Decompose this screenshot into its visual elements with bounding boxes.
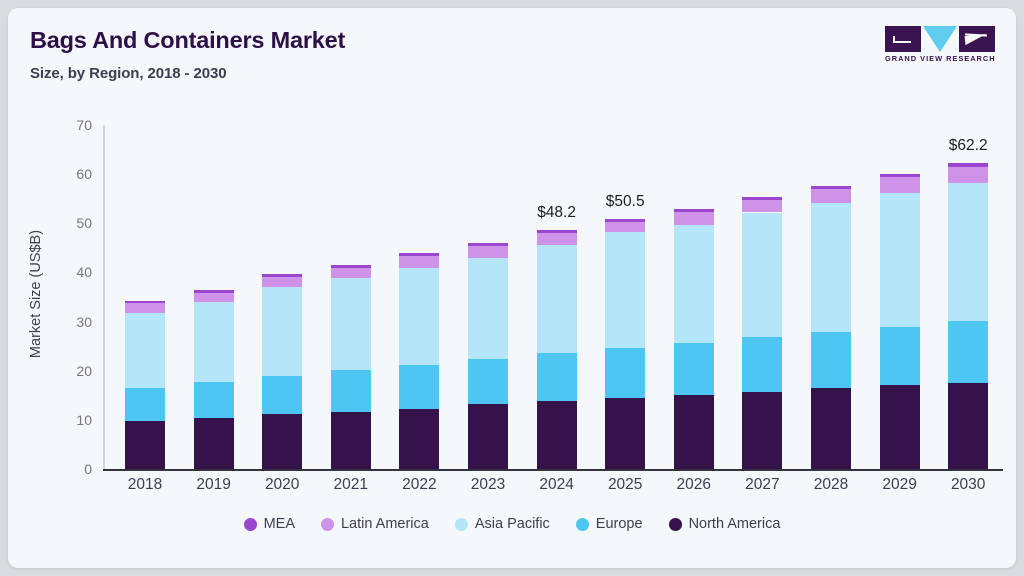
y-axis-tick: 60 [76,166,92,182]
legend-item-asia-pacific[interactable]: Asia Pacific [455,516,550,532]
segment-north-america[interactable] [811,388,851,469]
y-axis-tick: 0 [84,461,92,477]
segment-latin-america[interactable] [262,277,302,287]
segment-mea[interactable] [399,253,439,256]
segment-north-america[interactable] [605,398,645,469]
page-subtitle: Size, by Region, 2018 - 2030 [30,65,226,82]
segment-europe[interactable] [125,388,165,421]
legend-swatch-icon [244,518,257,531]
chart-legend: MEALatin AmericaAsia PacificEuropeNorth … [8,516,1016,532]
segment-asia-pacific[interactable] [674,225,714,343]
segment-latin-america[interactable] [948,167,988,183]
segment-latin-america[interactable] [880,177,920,193]
segment-latin-america[interactable] [811,189,851,203]
bar-2020[interactable] [262,274,302,469]
legend-item-latin-america[interactable]: Latin America [321,516,429,532]
segment-north-america[interactable] [948,383,988,469]
y-axis-tick: 30 [76,314,92,330]
y-axis-tick: 50 [76,215,92,231]
bar-2025[interactable] [605,219,645,469]
segment-latin-america[interactable] [674,212,714,225]
logo-mark-icon [885,26,995,52]
segment-mea[interactable] [674,209,714,212]
chart-card: Bags And Containers Market Size, by Regi… [8,8,1016,568]
bar-2028[interactable] [811,186,851,469]
segment-asia-pacific[interactable] [399,268,439,365]
segment-asia-pacific[interactable] [468,258,508,359]
segment-mea[interactable] [948,163,988,166]
segment-north-america[interactable] [537,401,577,469]
legend-label: Asia Pacific [475,516,550,532]
y-axis-tick: 20 [76,363,92,379]
x-axis-tick-2027: 2027 [728,476,796,494]
logo-wordmark: GRAND VIEW RESEARCH [885,54,995,63]
segment-asia-pacific[interactable] [948,183,988,321]
segment-europe[interactable] [194,382,234,418]
legend-label: MEA [264,516,295,532]
legend-item-mea[interactable]: MEA [244,516,295,532]
value-label-2030: $62.2 [923,137,1013,155]
segment-north-america[interactable] [880,385,920,469]
stacked-bar-chart: Market Size (US$B) 010203040506070 20182… [103,118,1003,470]
segment-asia-pacific[interactable] [331,278,371,370]
x-axis-tick-2030: 2030 [934,476,1002,494]
segment-latin-america[interactable] [537,233,577,245]
legend-swatch-icon [669,518,682,531]
legend-label: Europe [596,516,643,532]
segment-asia-pacific[interactable] [605,232,645,348]
segment-latin-america[interactable] [194,293,234,303]
segment-north-america[interactable] [399,409,439,469]
y-axis-label: Market Size (US$B) [28,230,44,358]
segment-asia-pacific[interactable] [537,245,577,353]
x-axis-tick-2019: 2019 [180,476,248,494]
segment-mea[interactable] [331,265,371,268]
y-axis-tick: 10 [76,412,92,428]
legend-swatch-icon [321,518,334,531]
segment-europe[interactable] [674,343,714,396]
x-axis-tick-2026: 2026 [660,476,728,494]
legend-swatch-icon [455,518,468,531]
segment-north-america[interactable] [331,412,371,469]
segment-north-america[interactable] [125,421,165,469]
x-axis-line [103,469,1003,471]
segment-asia-pacific[interactable] [125,313,165,388]
x-axis-tick-2021: 2021 [317,476,385,494]
x-axis-tick-2020: 2020 [248,476,316,494]
legend-swatch-icon [576,518,589,531]
bar-2022[interactable] [399,253,439,469]
segment-latin-america[interactable] [331,268,371,279]
segment-asia-pacific[interactable] [811,203,851,332]
bar-2027[interactable] [742,197,782,469]
legend-item-europe[interactable]: Europe [576,516,643,532]
segment-north-america[interactable] [468,404,508,469]
bar-2030[interactable] [948,163,988,469]
segment-mea[interactable] [605,219,645,222]
page-title: Bags And Containers Market [30,27,345,54]
x-axis-tick-2024: 2024 [523,476,591,494]
bar-2021[interactable] [331,265,371,469]
segment-mea[interactable] [468,243,508,246]
bar-2024[interactable] [537,230,577,469]
x-axis-tick-2018: 2018 [111,476,179,494]
bar-2018[interactable] [125,301,165,469]
segment-latin-america[interactable] [605,222,645,232]
x-axis-tick-2022: 2022 [385,476,453,494]
segment-asia-pacific[interactable] [880,193,920,327]
bar-2023[interactable] [468,243,508,469]
segment-europe[interactable] [948,321,988,382]
legend-label: North America [689,516,781,532]
y-axis-tick: 40 [76,264,92,280]
segment-europe[interactable] [262,376,302,414]
segment-europe[interactable] [331,370,371,411]
segment-europe[interactable] [880,327,920,385]
value-label-2025: $50.5 [580,193,670,211]
segment-europe[interactable] [399,365,439,409]
bar-2029[interactable] [880,174,920,469]
segment-mea[interactable] [811,186,851,189]
segment-europe[interactable] [537,353,577,401]
segment-north-america[interactable] [742,392,782,469]
bar-2019[interactable] [194,290,234,469]
segment-latin-america[interactable] [125,303,165,312]
legend-label: Latin America [341,516,429,532]
segment-mea[interactable] [262,274,302,277]
x-axis-tick-2029: 2029 [866,476,934,494]
y-axis-tick: 70 [76,117,92,133]
segment-mea[interactable] [742,197,782,200]
segment-mea[interactable] [194,290,234,292]
segment-mea[interactable] [880,174,920,177]
legend-item-north-america[interactable]: North America [669,516,781,532]
segment-north-america[interactable] [262,414,302,469]
segment-latin-america[interactable] [742,200,782,212]
logo-triangle-icon [923,26,957,52]
segment-asia-pacific[interactable] [194,302,234,382]
segment-asia-pacific[interactable] [262,287,302,376]
segment-latin-america[interactable] [468,246,508,257]
x-axis-tick-2023: 2023 [454,476,522,494]
segment-europe[interactable] [605,348,645,398]
logo-g-glyph-icon [893,36,911,43]
x-axis-tick-2028: 2028 [797,476,865,494]
segment-asia-pacific[interactable] [742,213,782,338]
segment-north-america[interactable] [194,418,234,469]
grand-view-research-logo: GRAND VIEW RESEARCH [885,26,995,66]
y-axis-line [103,125,105,469]
segment-europe[interactable] [742,337,782,392]
segment-north-america[interactable] [674,395,714,469]
segment-mea[interactable] [537,230,577,233]
x-axis-tick-2025: 2025 [591,476,659,494]
bar-2026[interactable] [674,209,714,469]
segment-europe[interactable] [811,332,851,388]
segment-latin-america[interactable] [399,256,439,268]
segment-europe[interactable] [468,359,508,404]
segment-mea[interactable] [125,301,165,303]
